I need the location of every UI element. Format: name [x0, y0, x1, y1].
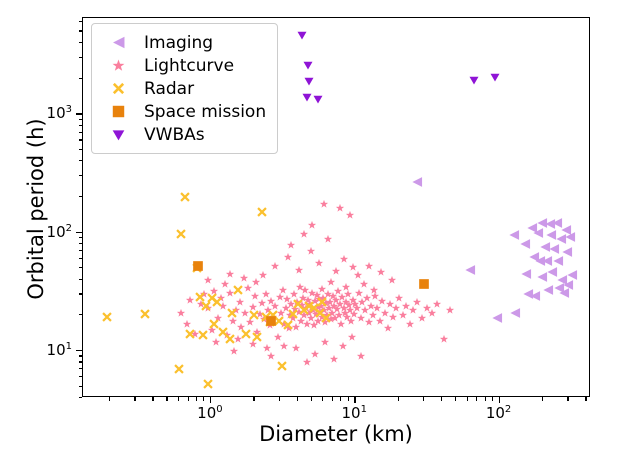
data-point-lightcurve	[220, 279, 229, 288]
y-tick	[79, 386, 83, 387]
data-point-lightcurve	[359, 279, 368, 288]
data-point-lightcurve	[277, 308, 286, 317]
x-tick	[134, 397, 135, 401]
y-tick	[79, 355, 83, 356]
x-tick	[109, 397, 110, 401]
data-point-lightcurve	[327, 308, 336, 317]
data-point-imaging	[558, 287, 569, 298]
data-point-lightcurve	[346, 211, 355, 220]
data-point-lightcurve	[240, 274, 249, 283]
x-tick	[332, 397, 333, 401]
data-point-lightcurve	[322, 298, 331, 307]
data-point-vwbas	[303, 60, 313, 70]
data-point-lightcurve	[354, 270, 363, 279]
y-tick	[79, 368, 83, 369]
data-point-lightcurve	[364, 318, 373, 327]
data-point-lightcurve	[279, 342, 288, 351]
data-point-lightcurve	[365, 262, 374, 271]
y-tick	[79, 119, 83, 120]
data-point-lightcurve	[259, 315, 268, 324]
data-point-imaging	[523, 289, 534, 300]
data-point-lightcurve	[293, 297, 302, 306]
data-point-lightcurve	[301, 286, 310, 295]
data-point-lightcurve	[305, 308, 314, 317]
y-tick	[79, 160, 83, 161]
legend-item-label: Radar	[144, 79, 194, 99]
x-tick	[178, 397, 179, 401]
data-point-lightcurve	[304, 295, 313, 304]
y-tick	[79, 57, 83, 58]
x-icon	[101, 82, 135, 95]
data-point-lightcurve	[296, 316, 305, 325]
data-point-lightcurve	[196, 299, 205, 308]
data-point-lightcurve	[327, 278, 336, 287]
data-point-lightcurve	[204, 304, 213, 313]
data-point-radar	[233, 284, 244, 295]
data-point-lightcurve	[182, 319, 191, 328]
data-point-lightcurve	[427, 308, 436, 317]
data-point-lightcurve	[358, 297, 367, 306]
data-point-lightcurve	[376, 268, 385, 277]
x-tick	[152, 397, 153, 401]
data-point-lightcurve	[326, 297, 335, 306]
data-point-radar	[211, 296, 222, 307]
data-point-radar	[197, 330, 208, 341]
data-point-imaging	[509, 229, 520, 240]
data-point-vwbas	[313, 94, 323, 104]
y-tick	[79, 279, 83, 280]
data-point-radar	[252, 332, 263, 343]
y-tick	[79, 376, 83, 377]
x-tick	[499, 397, 500, 403]
data-point-radar	[208, 318, 219, 329]
x-tick-label: 101	[341, 404, 366, 422]
data-point-imaging	[519, 239, 530, 250]
data-point-lightcurve	[368, 311, 377, 320]
data-point-lightcurve	[325, 304, 334, 313]
data-point-imaging	[520, 268, 531, 279]
data-point-lightcurve	[351, 299, 360, 308]
legend-item-label: Imaging	[144, 33, 213, 53]
data-point-lightcurve	[295, 282, 304, 291]
data-point-radar	[226, 307, 237, 318]
data-point-lightcurve	[302, 304, 311, 313]
data-point-lightcurve	[232, 306, 241, 315]
data-point-lightcurve	[280, 319, 289, 328]
data-point-lightcurve	[283, 294, 292, 303]
data-point-lightcurve	[250, 292, 259, 301]
x-tick	[467, 397, 468, 401]
data-point-lightcurve	[306, 246, 315, 255]
x-tick	[279, 397, 280, 401]
data-point-lightcurve	[323, 311, 332, 320]
x-tick	[311, 397, 312, 401]
x-tick	[348, 397, 349, 401]
x-tick	[492, 397, 493, 401]
data-point-lightcurve	[228, 316, 237, 325]
data-point-lightcurve	[354, 288, 363, 297]
data-point-lightcurve	[281, 304, 290, 313]
data-point-lightcurve	[307, 313, 316, 322]
data-point-lightcurve	[333, 305, 342, 314]
data-point-radar	[304, 300, 315, 311]
y-tick	[76, 113, 82, 114]
y-tick	[76, 350, 82, 351]
data-point-radar	[224, 334, 235, 345]
x-tick	[567, 397, 568, 401]
x-tick	[455, 397, 456, 401]
y-tick	[79, 361, 83, 362]
data-point-lightcurve	[315, 294, 324, 303]
data-point-radar	[276, 360, 287, 371]
y-tick	[79, 78, 83, 79]
data-point-lightcurve	[319, 293, 328, 302]
x-tick	[253, 397, 254, 401]
data-point-lightcurve	[275, 293, 284, 302]
data-point-lightcurve	[273, 333, 282, 342]
data-point-radar	[268, 310, 279, 321]
x-tick	[166, 397, 167, 401]
data-point-lightcurve	[263, 344, 272, 353]
y-tick	[79, 267, 83, 268]
data-point-imaging	[529, 291, 540, 302]
data-point-space-mission	[265, 315, 276, 326]
data-point-imaging	[551, 218, 562, 229]
legend-item-vwbas[interactable]: VWBAs	[101, 123, 268, 146]
data-point-radar	[173, 364, 184, 375]
data-point-lightcurve	[311, 310, 320, 319]
data-point-radar	[249, 310, 260, 321]
data-point-lightcurve	[288, 313, 297, 322]
data-point-imaging	[539, 242, 550, 253]
data-point-lightcurve	[310, 296, 319, 305]
data-point-lightcurve	[265, 321, 274, 330]
data-point-lightcurve	[328, 292, 337, 301]
y-tick	[79, 175, 83, 176]
data-point-lightcurve	[226, 288, 235, 297]
y-tick	[79, 21, 83, 22]
legend-item-label: Space mission	[144, 102, 266, 122]
data-point-lightcurve	[315, 307, 324, 316]
data-point-lightcurve	[347, 316, 356, 325]
data-point-lightcurve	[316, 301, 325, 310]
data-point-lightcurve	[209, 287, 218, 296]
data-point-lightcurve	[219, 301, 228, 310]
y-tick	[79, 258, 83, 259]
data-point-radar	[191, 263, 202, 274]
y-tick	[79, 132, 83, 133]
data-point-lightcurve	[324, 290, 333, 299]
y-tick	[79, 397, 83, 398]
data-point-imaging	[547, 267, 558, 278]
data-point-lightcurve	[292, 322, 301, 331]
data-point-radar	[175, 229, 186, 240]
data-point-lightcurve	[208, 326, 217, 335]
square-icon	[101, 105, 135, 118]
data-point-lightcurve	[324, 235, 333, 244]
data-point-lightcurve	[243, 284, 252, 293]
data-point-lightcurve	[237, 322, 246, 331]
data-point-lightcurve	[292, 344, 301, 353]
data-point-radar	[314, 307, 325, 318]
data-point-radar	[218, 326, 229, 337]
x-tick	[398, 397, 399, 401]
data-point-lightcurve	[329, 301, 338, 310]
data-point-imaging	[562, 247, 573, 258]
data-point-lightcurve	[248, 339, 257, 348]
data-point-imaging	[557, 274, 568, 285]
data-point-lightcurve	[417, 313, 426, 322]
data-point-lightcurve	[230, 346, 239, 355]
data-point-lightcurve	[332, 295, 341, 304]
data-point-imaging	[567, 269, 578, 280]
data-point-lightcurve	[253, 327, 262, 336]
x-tick	[354, 397, 355, 403]
data-point-lightcurve	[423, 304, 432, 313]
legend-item-label: Lightcurve	[144, 56, 234, 76]
data-point-lightcurve	[439, 335, 448, 344]
x-tick	[485, 397, 486, 401]
data-point-imaging	[555, 234, 566, 245]
data-point-lightcurve	[405, 319, 414, 328]
data-point-lightcurve	[312, 291, 321, 300]
data-point-lightcurve	[344, 300, 353, 309]
data-point-lightcurve	[342, 312, 351, 321]
y-tick	[79, 42, 83, 43]
y-tick	[79, 237, 83, 238]
x-tick	[542, 397, 543, 401]
data-point-lightcurve	[348, 263, 357, 272]
data-point-imaging	[412, 176, 423, 187]
data-point-lightcurve	[283, 253, 292, 262]
data-point-imaging	[510, 307, 521, 318]
x-tick-label: 100	[197, 404, 222, 422]
data-point-imaging	[528, 252, 539, 263]
data-point-lightcurve	[353, 304, 362, 313]
data-point-radar	[273, 315, 284, 326]
data-point-lightcurve	[433, 299, 442, 308]
data-point-lightcurve	[191, 329, 200, 338]
data-point-lightcurve	[356, 313, 365, 322]
data-point-lightcurve	[331, 313, 340, 322]
data-point-lightcurve	[337, 319, 346, 328]
legend-item-imaging[interactable]: Imaging	[101, 31, 268, 54]
legend-item-space-mission[interactable]: Space mission	[101, 100, 268, 123]
data-point-lightcurve	[307, 221, 316, 230]
data-point-lightcurve	[380, 308, 389, 317]
x-tick	[585, 397, 586, 401]
data-point-lightcurve	[251, 278, 260, 287]
data-point-lightcurve	[306, 299, 315, 308]
data-point-lightcurve	[340, 308, 349, 317]
data-point-lightcurve	[370, 292, 379, 301]
y-tick	[79, 149, 83, 150]
legend-item-label: VWBAs	[144, 125, 205, 145]
data-point-lightcurve	[409, 306, 418, 315]
data-point-lightcurve	[338, 293, 347, 302]
data-point-radar	[309, 303, 320, 314]
data-point-lightcurve	[340, 254, 349, 263]
data-point-lightcurve	[366, 301, 375, 310]
data-point-lightcurve	[176, 308, 185, 317]
data-point-lightcurve	[321, 318, 330, 327]
data-point-lightcurve	[378, 296, 387, 305]
data-point-lightcurve	[269, 312, 278, 321]
data-point-lightcurve	[302, 358, 311, 367]
data-point-space-mission	[419, 278, 430, 289]
data-point-imaging	[537, 218, 548, 229]
data-point-imaging	[464, 265, 475, 276]
data-point-imaging	[549, 244, 560, 255]
data-point-radar	[317, 296, 328, 307]
data-point-radar	[200, 300, 211, 311]
y-tick	[79, 314, 83, 315]
data-point-lightcurve	[298, 300, 307, 309]
data-point-lightcurve	[348, 295, 357, 304]
data-point-radar	[185, 328, 196, 339]
data-point-lightcurve	[392, 304, 401, 313]
data-point-vwbas	[469, 75, 479, 85]
data-point-lightcurve	[413, 297, 422, 306]
y-tick	[79, 139, 83, 140]
data-point-lightcurve	[309, 306, 318, 315]
data-point-lightcurve	[278, 285, 287, 294]
x-tick	[297, 397, 298, 401]
data-point-lightcurve	[320, 306, 329, 315]
star-icon	[101, 59, 135, 72]
data-point-lightcurve	[266, 352, 275, 361]
data-point-lightcurve	[234, 335, 243, 344]
x-tick-label: 102	[486, 404, 511, 422]
data-point-imaging	[544, 219, 555, 230]
data-point-radar	[260, 311, 271, 322]
data-point-lightcurve	[335, 204, 344, 213]
data-point-lightcurve	[383, 324, 392, 333]
data-point-lightcurve	[271, 262, 280, 271]
y-tick	[79, 125, 83, 126]
data-point-imaging	[560, 225, 571, 236]
data-point-lightcurve	[375, 316, 384, 325]
data-point-lightcurve	[386, 299, 395, 308]
data-point-lightcurve	[349, 310, 358, 319]
data-point-lightcurve	[341, 282, 350, 291]
data-point-lightcurve	[255, 310, 264, 319]
data-point-imaging	[542, 284, 553, 295]
data-point-lightcurve	[299, 230, 308, 239]
data-point-lightcurve	[329, 355, 338, 364]
data-point-vwbas	[297, 30, 307, 40]
data-point-imaging	[565, 231, 576, 242]
data-point-radar	[292, 298, 303, 309]
data-point-lightcurve	[362, 293, 371, 302]
data-point-lightcurve	[295, 266, 304, 275]
y-tick	[79, 30, 83, 31]
data-point-lightcurve	[225, 269, 234, 278]
data-point-lightcurve	[335, 311, 344, 320]
data-point-lightcurve	[284, 324, 293, 333]
data-point-lightcurve	[240, 308, 249, 317]
data-point-radar	[194, 292, 205, 303]
data-point-imaging	[563, 280, 574, 291]
data-point-imaging	[536, 272, 547, 283]
data-point-radar	[321, 312, 332, 323]
data-point-space-mission	[193, 261, 204, 272]
data-point-lightcurve	[317, 284, 326, 293]
triangle-down-icon	[101, 128, 135, 141]
data-point-radar	[203, 378, 214, 389]
data-point-lightcurve	[308, 288, 317, 297]
data-point-lightcurve	[299, 293, 308, 302]
data-point-lightcurve	[309, 321, 318, 330]
scatter-plot-figure: 100101102101102103 Diameter (km) Orbital…	[0, 0, 617, 456]
data-point-imaging	[546, 229, 557, 240]
data-point-lightcurve	[311, 349, 320, 358]
data-point-imaging	[492, 312, 503, 323]
data-point-lightcurve	[373, 304, 382, 313]
data-point-lightcurve	[271, 301, 280, 310]
data-point-imaging	[552, 255, 563, 266]
data-point-radar	[140, 309, 151, 320]
data-point-vwbas	[302, 92, 312, 102]
y-tick	[79, 293, 83, 294]
data-point-radar	[287, 309, 298, 320]
x-tick	[188, 397, 189, 401]
x-tick	[340, 397, 341, 401]
data-point-lightcurve	[321, 337, 330, 346]
data-point-lightcurve	[211, 337, 220, 346]
data-point-radar	[256, 206, 267, 217]
data-point-lightcurve	[213, 313, 222, 322]
data-point-lightcurve	[346, 306, 355, 315]
data-point-lightcurve	[348, 333, 357, 342]
legend: ImagingLightcurveRadarSpace missionVWBAs	[91, 23, 278, 154]
data-point-radar	[179, 191, 190, 202]
x-tick	[423, 397, 424, 401]
data-point-lightcurve	[338, 342, 347, 351]
data-point-lightcurve	[334, 287, 343, 296]
data-point-lightcurve	[314, 259, 323, 268]
data-point-lightcurve	[186, 295, 195, 304]
data-point-imaging	[553, 283, 564, 294]
data-point-lightcurve	[313, 302, 322, 311]
data-point-lightcurve	[289, 289, 298, 298]
x-tick	[476, 397, 477, 401]
data-point-lightcurve	[402, 301, 411, 310]
data-point-lightcurve	[248, 302, 257, 311]
data-point-lightcurve	[300, 311, 309, 320]
legend-item-lightcurve[interactable]: Lightcurve	[101, 54, 268, 77]
data-point-lightcurve	[246, 318, 255, 327]
x-tick	[203, 397, 204, 401]
y-tick	[79, 196, 83, 197]
data-point-lightcurve	[336, 299, 345, 308]
data-point-lightcurve	[320, 199, 329, 208]
x-axis-label: Diameter (km)	[82, 422, 590, 446]
data-point-lightcurve	[235, 297, 244, 306]
data-point-imaging	[533, 227, 544, 238]
data-point-lightcurve	[327, 315, 336, 324]
data-point-imaging	[534, 255, 545, 266]
data-point-lightcurve	[398, 311, 407, 320]
data-point-lightcurve	[203, 275, 212, 284]
data-point-lightcurve	[389, 312, 398, 321]
data-point-radar	[240, 328, 251, 339]
data-point-lightcurve	[339, 304, 348, 313]
data-point-lightcurve	[217, 293, 226, 302]
x-tick	[210, 397, 211, 403]
data-point-lightcurve	[294, 307, 303, 316]
legend-item-radar[interactable]: Radar	[101, 77, 268, 100]
